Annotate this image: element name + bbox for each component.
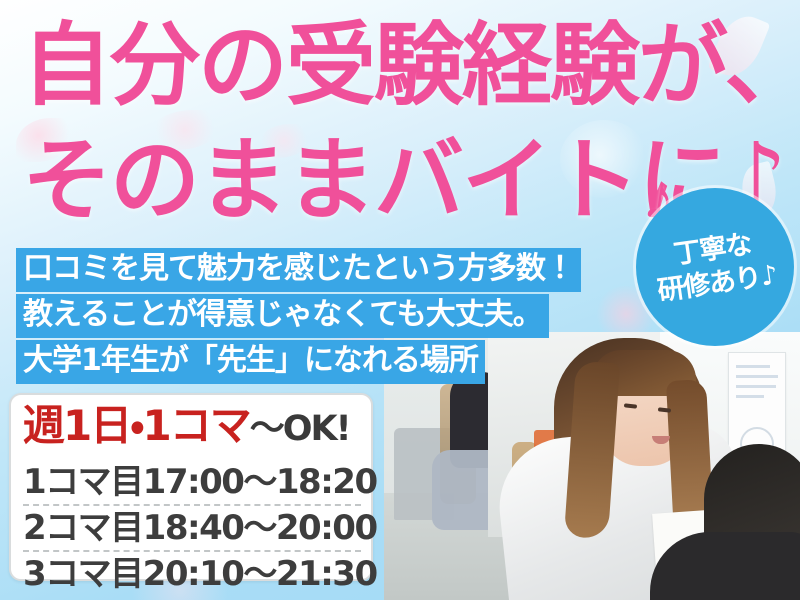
schedule-slot-3: 3コマ目20:10〜21:30 <box>23 552 361 596</box>
training-badge: 丁寧な 研修あり♪ <box>636 188 794 346</box>
schedule-headline-highlight: 週1日・1コマ <box>23 401 250 450</box>
headline-line-2-text: そのままバイトに <box>22 128 726 233</box>
headline-line-1: 自分の受験経験が、 <box>22 16 800 116</box>
subline-1: 口コミを見て魅力を感じたという方多数！ <box>16 248 581 292</box>
subline-2: 教えることが得意じゃなくても大丈夫。 <box>16 294 549 338</box>
job-ad-banner: 自分の受験経験が、 そのままバイトに♪ 口コミを見て魅力を感じたという方多数！ … <box>0 0 800 600</box>
subline-row-1: 口コミを見て魅力を感じたという方多数！ <box>16 248 581 292</box>
subline-3: 大学1年生が「先生」になれる場所 <box>16 340 485 384</box>
schedule-panel: 週1日・1コマ〜OK! 1コマ目17:00〜18:20 2コマ目18:40〜20… <box>9 393 373 581</box>
training-badge-line-2: 研修あり♪ <box>655 259 779 309</box>
subline-row-3: 大学1年生が「先生」になれる場所 <box>16 340 485 384</box>
subline-row-2: 教えることが得意じゃなくても大丈夫。 <box>16 294 549 338</box>
schedule-headline: 週1日・1コマ〜OK! <box>23 401 361 460</box>
schedule-slot-1: 1コマ目17:00〜18:20 <box>23 460 361 504</box>
schedule-slot-2: 2コマ目18:40〜20:00 <box>23 506 361 550</box>
training-badge-text: 丁寧な 研修あり♪ <box>626 178 800 356</box>
schedule-headline-tail: 〜OK! <box>250 409 350 449</box>
